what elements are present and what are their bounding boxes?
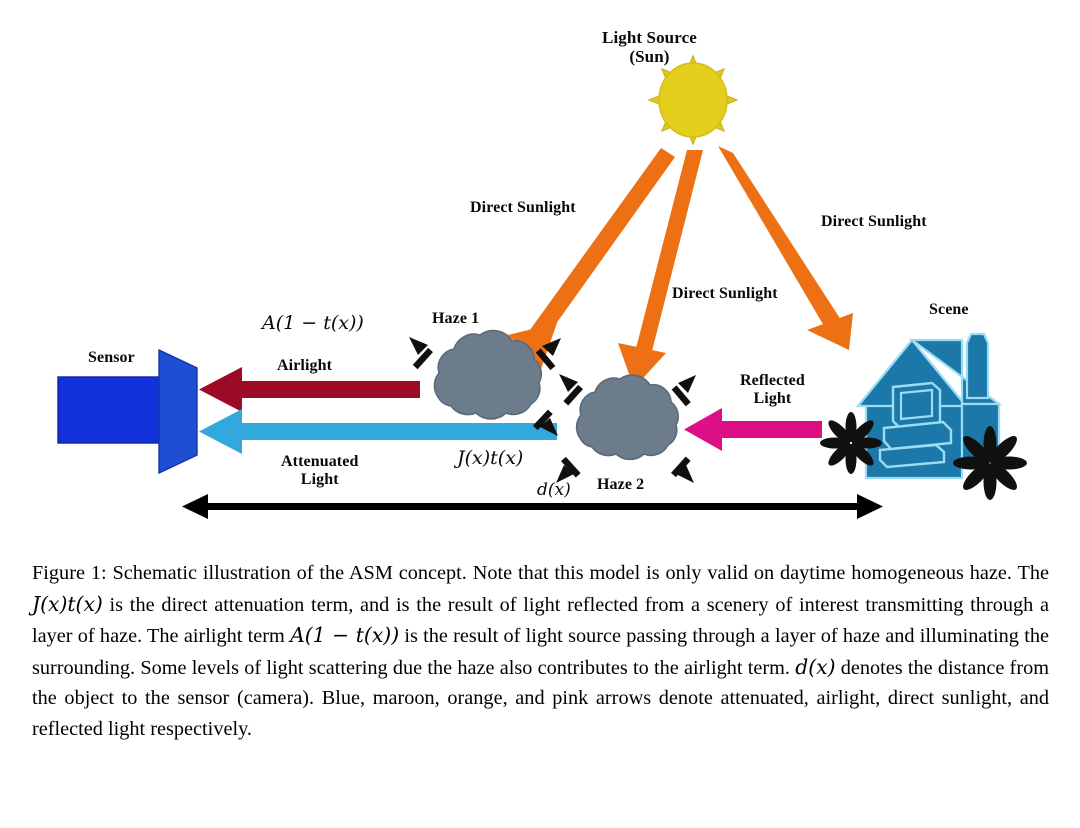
haze-2-cloud [577,375,679,459]
direct-sunlight-arrows [508,146,853,388]
direct-sunlight-label-right: Direct Sunlight [821,213,927,231]
reflected-light-label-line1: Reflected [740,372,805,389]
attenuated-light-label: Attenuated Light [281,453,358,489]
direct-sunlight-arrow-middle [618,150,703,388]
light-source-title: Light Source [602,28,697,47]
direct-sunlight-label-left: Direct Sunlight [470,199,576,217]
direct-sunlight-arrow-right [718,146,853,350]
caption-number: Figure 1: [32,562,107,584]
caption-math-1: J(x)t(x) [32,592,103,616]
haze-1-label: Haze 1 [432,310,479,328]
light-source-label: Light Source (Sun) [602,28,697,66]
scatter-arrow-2-down-right [671,456,694,483]
attenuated-light-label-line2: Light [301,471,339,488]
figure-page: Light Source (Sun) Direct Sunlight Direc… [0,0,1080,828]
reflected-light-label: Reflected Light [740,372,805,408]
sensor-label: Sensor [88,349,135,367]
scatter-arrow-2-up-right [672,375,696,406]
haze-2-label: Haze 2 [597,476,644,494]
reflected-light-arrow [684,408,822,451]
caption-math-3: d(x) [795,655,835,679]
scene-plant-left [820,412,882,474]
light-source-subtitle: (Sun) [602,47,697,66]
scatter-arrow-2-up-left [559,374,583,406]
reflected-light-label-line2: Light [754,390,792,407]
scatter-arrow-up-left [409,337,433,369]
direct-sunlight-label-middle: Direct Sunlight [672,285,778,303]
sensor-camera-icon [58,350,197,473]
figure-caption: Figure 1: Schematic illustration of the … [32,558,1049,744]
schematic-svg [0,0,1080,540]
scene-label: Scene [929,301,969,319]
sun-disc-icon [659,63,727,137]
sensor-body [58,377,162,443]
distance-double-arrow [182,494,883,519]
airlight-formula: A(1 − t(x)) [262,312,364,334]
caption-part-1: Schematic illustration of the ASM concep… [107,562,1049,584]
distance-formula: d(x) [537,480,571,500]
airlight-label: Airlight [277,357,332,375]
attenuated-light-label-line1: Attenuated [281,453,358,470]
sun-graphic [649,56,737,144]
haze-1-cloud [434,331,541,419]
sensor-lens [159,350,197,473]
asm-schematic-figure: Light Source (Sun) Direct Sunlight Direc… [0,0,1080,540]
caption-math-2: A(1 − t(x)) [290,623,399,647]
attenuation-formula: J(x)t(x) [457,447,523,469]
